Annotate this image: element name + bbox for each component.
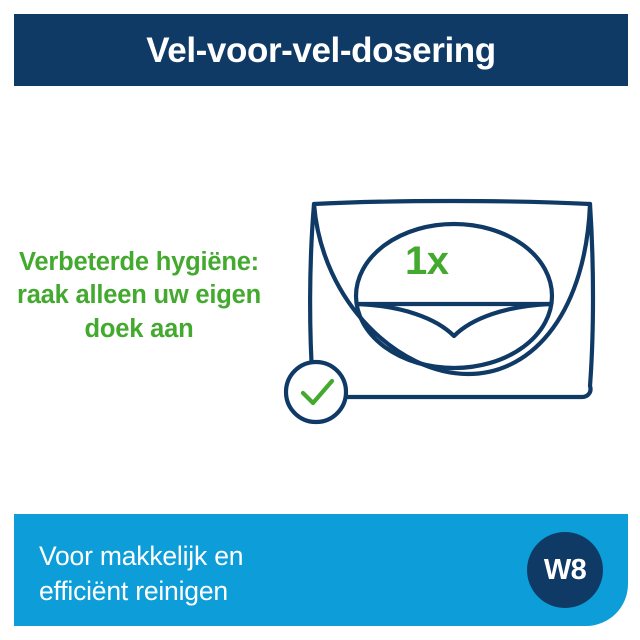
- footer-banner: Voor makkelijk en efficiënt reinigen W8: [14, 514, 628, 626]
- feature-line-1: Verbeterde: [19, 248, 149, 276]
- page-title: Vel-voor-vel-dosering: [146, 33, 495, 68]
- check-circle-badge: [286, 362, 346, 422]
- feature-benefit-text: Verbeterde hygiëne: raak alleen uw eigen…: [14, 246, 264, 346]
- footer-line-1: Voor makkelijk en: [39, 539, 243, 574]
- feature-line-4: doek aan: [85, 315, 194, 343]
- footer-line-2: efficiënt reinigen: [39, 574, 243, 609]
- wipe-sheet-ellipse: [356, 224, 552, 368]
- footer-tagline: Voor makkelijk en efficiënt reinigen: [39, 539, 243, 609]
- feature-line-3: alleen uw eigen: [76, 281, 261, 309]
- check-circle-outline: [286, 362, 346, 422]
- product-feature-infographic: Vel-voor-vel-dosering Verbeterde hygiëne…: [0, 0, 640, 640]
- content-area: Verbeterde hygiëne: raak alleen uw eigen…: [0, 96, 640, 506]
- header-banner: Vel-voor-vel-dosering: [14, 14, 628, 86]
- dispenser-illustration: 1x: [272, 184, 612, 444]
- wipe-fold-curve: [358, 304, 550, 336]
- product-code-label: W8: [544, 556, 586, 585]
- product-code-badge: W8: [527, 532, 603, 608]
